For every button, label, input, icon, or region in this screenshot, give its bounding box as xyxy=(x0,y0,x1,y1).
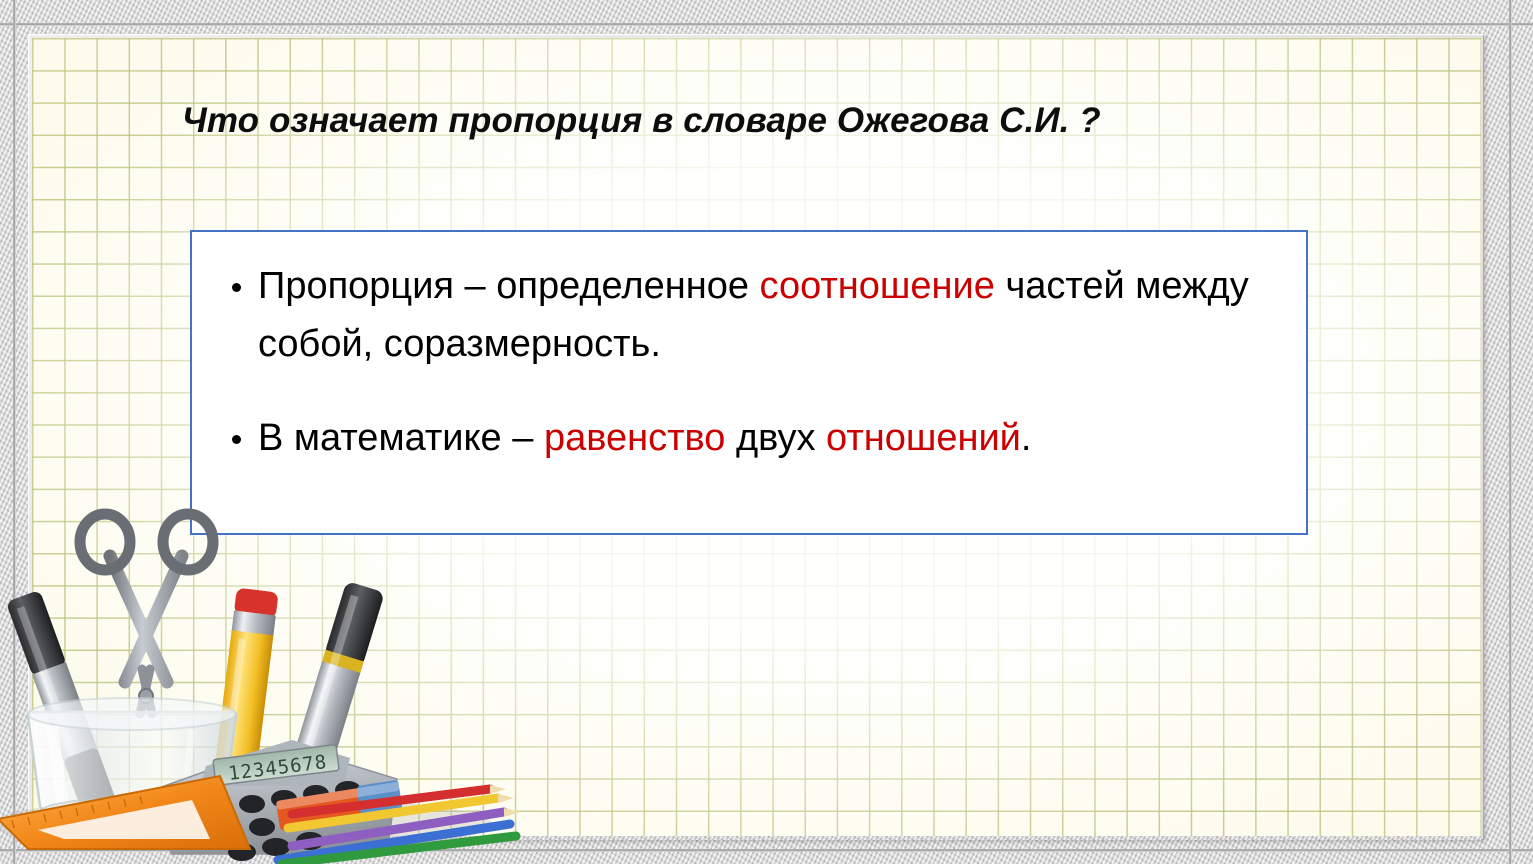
presentation-slide: Что означает пропорция в словаре Ожегова… xyxy=(0,0,1533,864)
desk-band xyxy=(32,836,1481,840)
bullet-text-highlight: соотношение xyxy=(760,265,995,307)
bullet-text-tail: частей xyxy=(995,265,1125,307)
bullet-text-highlight-a: равенство xyxy=(544,417,725,459)
bullet-text-plain-b: двух xyxy=(725,417,826,459)
frame-line-left xyxy=(13,0,16,864)
content-box: Пропорция – определенное соотношение час… xyxy=(190,230,1308,535)
frame-line-top xyxy=(0,23,1533,26)
bullet-text-plain-c: . xyxy=(1021,417,1032,459)
bullet-list: Пропорция – определенное соотношение час… xyxy=(218,258,1280,467)
bullet-text-plain: Пропорция – определенное xyxy=(258,265,760,307)
bullet-text-highlight-b: отношений xyxy=(826,417,1021,459)
list-item: Пропорция – определенное соотношение час… xyxy=(218,258,1280,374)
bullet-text-plain-a: В математике – xyxy=(258,417,544,459)
list-item: В математике – равенство двух отношений. xyxy=(218,410,1280,468)
page-title: Что означает пропорция в словаре Ожегова… xyxy=(182,101,1372,141)
frame-line-right xyxy=(1509,0,1512,864)
frame-line-bottom xyxy=(0,849,1533,852)
